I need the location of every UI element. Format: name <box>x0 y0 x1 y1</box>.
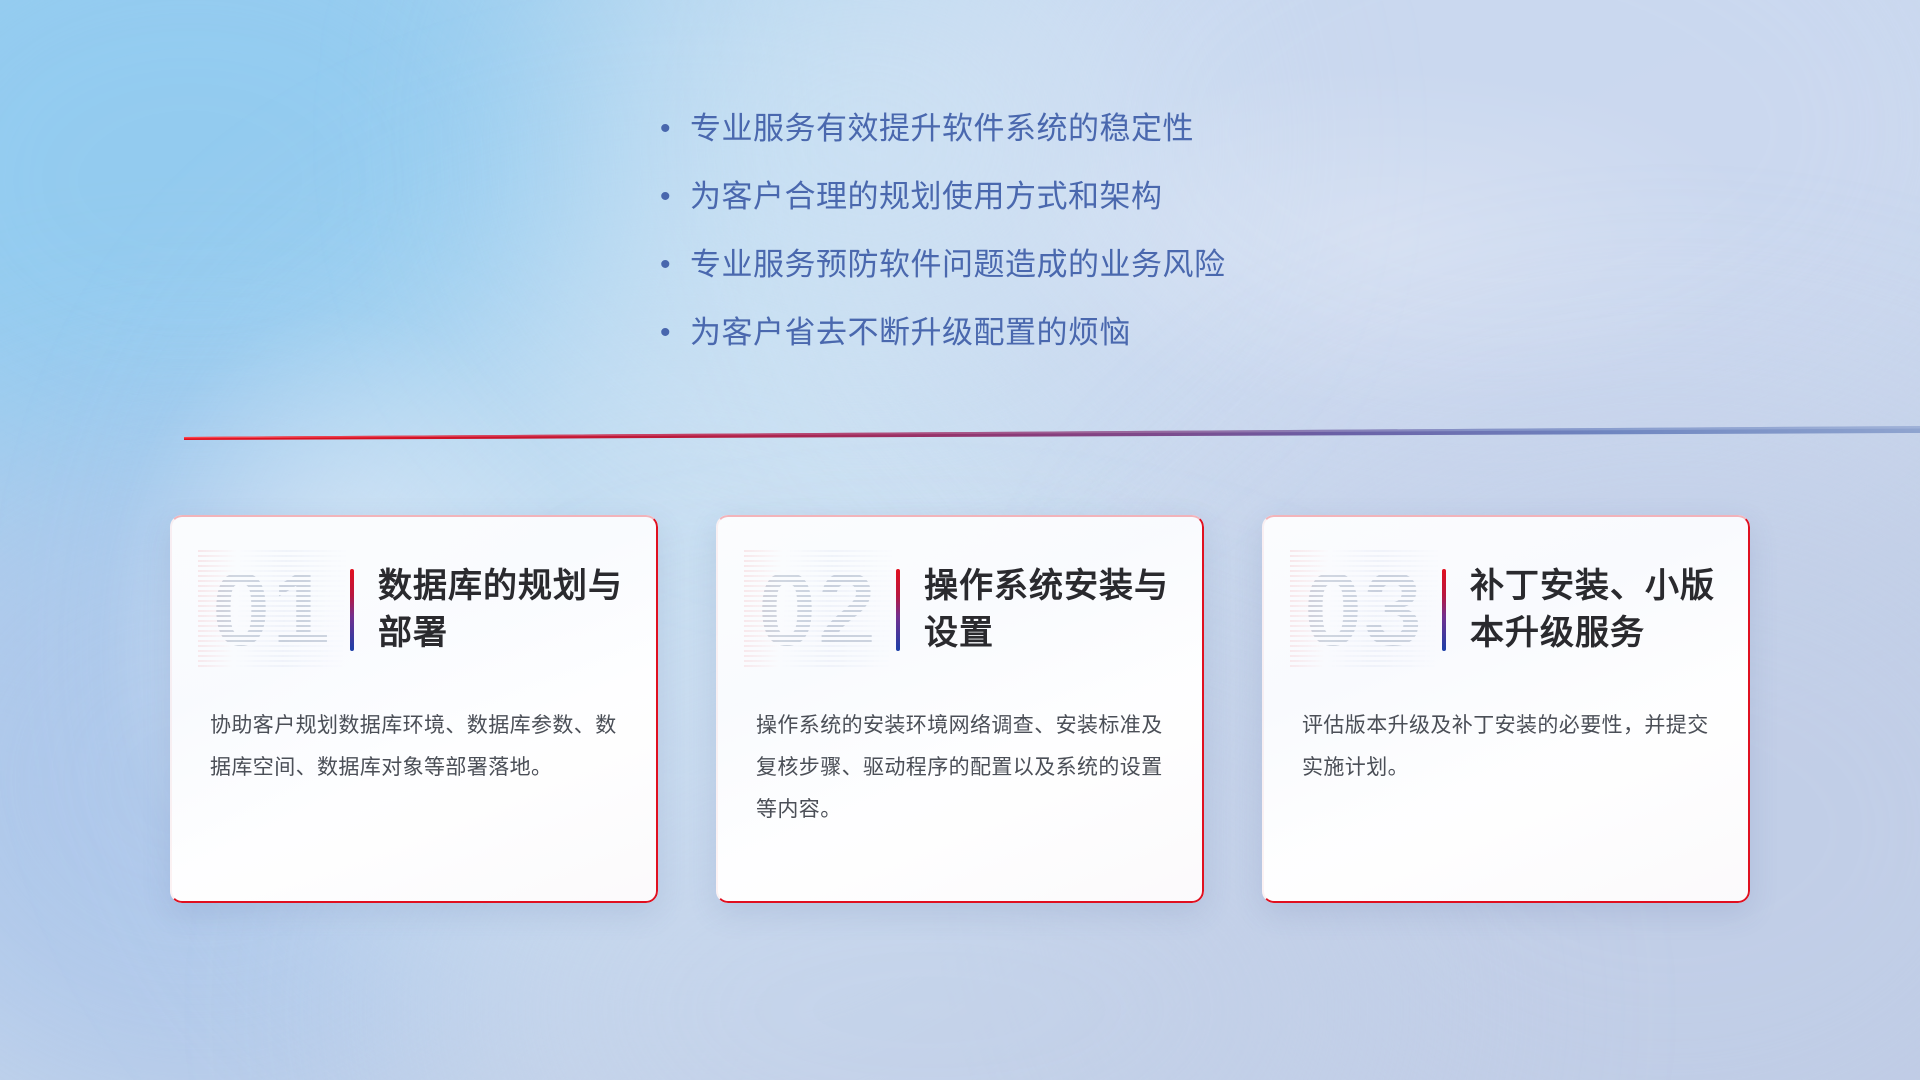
service-cards: 01 数据库的规划与部署 协助客户规划数据库环境、数据库参数、数据库空间、数据库… <box>0 515 1920 903</box>
card-number: 01 <box>198 550 346 670</box>
card-description: 协助客户规划数据库环境、数据库参数、数据库空间、数据库对象等部署落地。 <box>170 705 658 789</box>
list-item: • 为客户合理的规划使用方式和架构 <box>660 178 1420 216</box>
benefits-list: • 专业服务有效提升软件系统的稳定性 • 为客户合理的规划使用方式和架构 • 专… <box>660 110 1420 382</box>
list-item: • 为客户省去不断升级配置的烦恼 <box>660 314 1420 352</box>
card-title: 补丁安装、小版本升级服务 <box>1470 563 1724 657</box>
list-item: • 专业服务预防软件问题造成的业务风险 <box>660 246 1420 284</box>
bullet-text: 为客户省去不断升级配置的烦恼 <box>690 314 1131 352</box>
card-description: 评估版本升级及补丁安装的必要性，并提交实施计划。 <box>1262 705 1750 789</box>
bullet-dot-icon: • <box>660 110 690 148</box>
card-accent-bar <box>896 569 900 651</box>
service-card[interactable]: 01 数据库的规划与部署 协助客户规划数据库环境、数据库参数、数据库空间、数据库… <box>170 515 658 903</box>
card-title: 数据库的规划与部署 <box>378 563 632 657</box>
card-header: 02 操作系统安装与设置 <box>716 515 1204 705</box>
card-description: 操作系统的安装环境网络调查、安装标准及复核步骤、驱动程序的配置以及系统的设置等内… <box>716 705 1204 831</box>
card-title: 操作系统安装与设置 <box>924 563 1178 657</box>
card-number: 03 <box>1290 550 1438 670</box>
bullet-dot-icon: • <box>660 178 690 216</box>
bullet-dot-icon: • <box>660 246 690 284</box>
slide-canvas: • 专业服务有效提升软件系统的稳定性 • 为客户合理的规划使用方式和架构 • 专… <box>0 0 1920 1080</box>
bullet-dot-icon: • <box>660 314 690 352</box>
card-header: 03 补丁安装、小版本升级服务 <box>1262 515 1750 705</box>
card-accent-bar <box>1442 569 1446 651</box>
service-card[interactable]: 03 补丁安装、小版本升级服务 评估版本升级及补丁安装的必要性，并提交实施计划。 <box>1262 515 1750 903</box>
card-header: 01 数据库的规划与部署 <box>170 515 658 705</box>
bullet-text: 专业服务预防软件问题造成的业务风险 <box>690 246 1226 284</box>
service-card[interactable]: 02 操作系统安装与设置 操作系统的安装环境网络调查、安装标准及复核步骤、驱动程… <box>716 515 1204 903</box>
card-accent-bar <box>350 569 354 651</box>
list-item: • 专业服务有效提升软件系统的稳定性 <box>660 110 1420 148</box>
bullet-text: 专业服务有效提升软件系统的稳定性 <box>690 110 1194 148</box>
bullet-text: 为客户合理的规划使用方式和架构 <box>690 178 1163 216</box>
card-number: 02 <box>744 550 892 670</box>
